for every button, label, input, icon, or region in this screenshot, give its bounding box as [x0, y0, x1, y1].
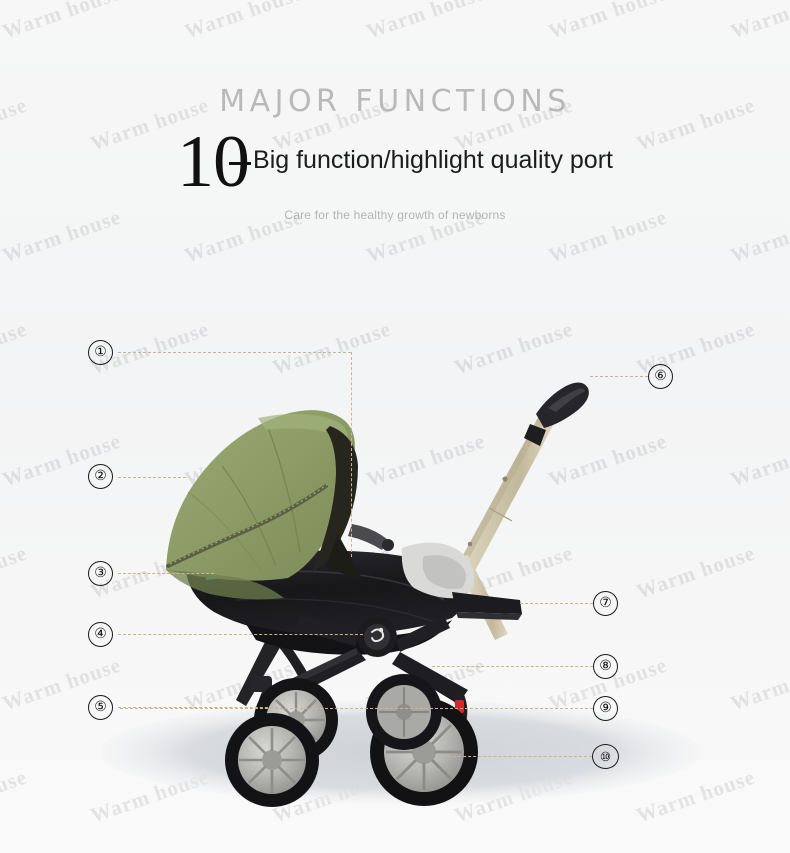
leader-line-4-h: [118, 634, 363, 635]
callout-marker-10[interactable]: ⑩: [592, 744, 619, 769]
tube-rivet-2: [468, 542, 473, 547]
callout-marker-8[interactable]: ⑧: [593, 654, 618, 679]
leader-line-6-h: [590, 376, 648, 377]
callout-marker-9[interactable]: ⑨: [593, 696, 618, 721]
canopy-arm-pivot: [382, 539, 394, 551]
leader-line-8-h: [432, 666, 593, 667]
infographic-page: Warm houseWarm houseWarm houseWarm house…: [0, 0, 790, 853]
leader-line-1-v: [351, 352, 352, 557]
callout-marker-1[interactable]: ①: [88, 340, 113, 365]
headline-row: 10 Big function/highlight quality port: [0, 126, 790, 194]
dash-mark: [229, 162, 251, 165]
leader-line-2-h: [118, 477, 186, 478]
swivel-hub-inner: [364, 624, 390, 650]
wheel-front: [225, 713, 319, 807]
wheel-rear-far: [366, 674, 442, 750]
callout-marker-7[interactable]: ⑦: [593, 591, 618, 616]
leader-line-1-h: [118, 352, 351, 353]
swivel-hub-icon-dot: [379, 628, 383, 632]
callout-marker-3[interactable]: ③: [88, 561, 113, 586]
header: MAJOR FUNCTIONS 10 Big function/highligh…: [0, 0, 790, 222]
callout-marker-6[interactable]: ⑥: [648, 364, 673, 389]
callout-marker-2[interactable]: ②: [88, 464, 113, 489]
page-title: MAJOR FUNCTIONS: [0, 84, 790, 119]
callout-marker-5[interactable]: ⑤: [88, 695, 113, 720]
leader-line-3-h: [118, 573, 214, 574]
leader-line-7-h: [520, 603, 593, 604]
tube-rivet: [503, 477, 508, 482]
subtitle: Care for the healthy growth of newborns: [0, 208, 790, 222]
headline-text: Big function/highlight quality port: [253, 146, 613, 175]
callout-marker-4[interactable]: ④: [88, 622, 113, 647]
leader-line-10-h: [448, 756, 592, 757]
leader-line-9-h: [120, 708, 593, 709]
canopy-arm: [348, 524, 388, 550]
